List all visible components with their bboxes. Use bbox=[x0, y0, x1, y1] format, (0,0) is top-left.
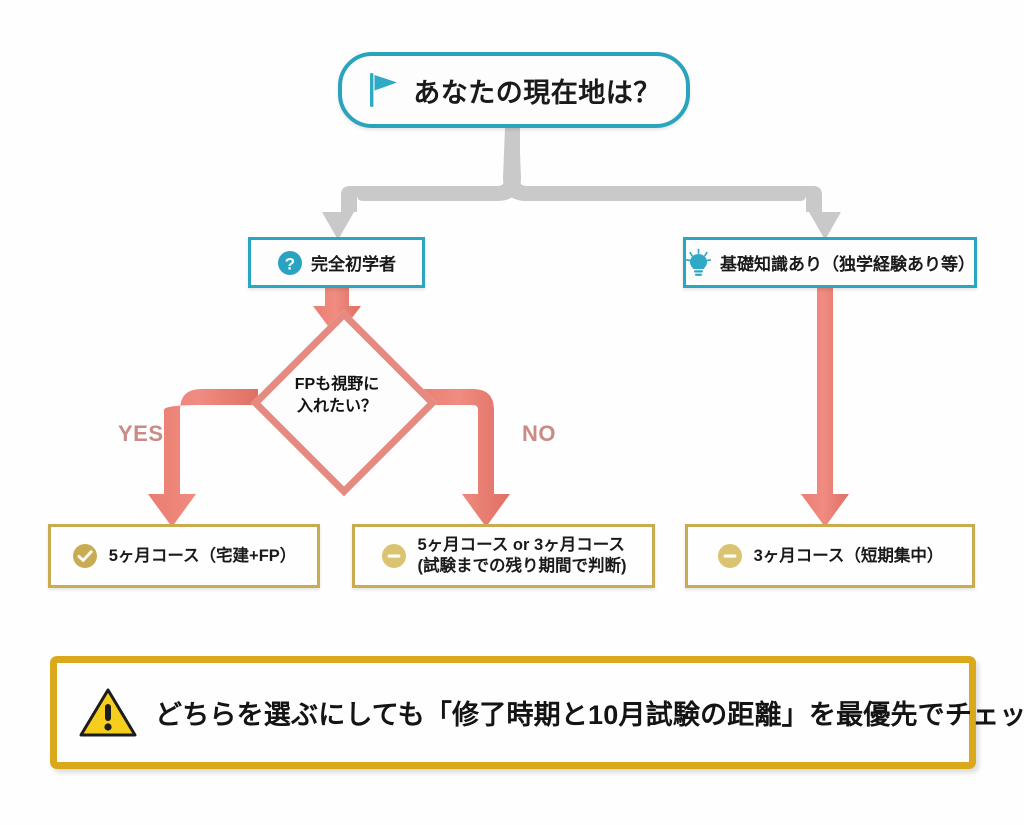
minus-circle-icon bbox=[717, 543, 743, 569]
result-2-line-1: 5ヶ月コース or 3ヶ月コース bbox=[418, 536, 625, 554]
result-2-line-2: (試験までの残り期間で判断) bbox=[418, 556, 627, 577]
minus-circle-icon bbox=[381, 543, 407, 569]
footer-note-text: どちらを選ぶにしても「修了時期と10月試験の距離」を最優先でチェック！ bbox=[155, 693, 1024, 732]
lightbulb-icon bbox=[685, 248, 712, 278]
node-root[interactable]: あなたの現在地は？ bbox=[338, 52, 690, 128]
arrow-yes bbox=[148, 389, 258, 527]
result-1-label: 5ヶ月コース（宅建+FP） bbox=[109, 546, 297, 567]
flag-icon bbox=[367, 71, 401, 109]
node-result-5m-fp[interactable]: 5ヶ月コース（宅建+FP） bbox=[48, 524, 320, 588]
check-circle-icon bbox=[72, 543, 98, 569]
question-circle-icon: ? bbox=[277, 250, 303, 276]
node-branch-has-basics[interactable]: 基礎知識あり（独学経験あり等） bbox=[683, 237, 977, 288]
branch-label-yes: YES bbox=[118, 421, 164, 447]
decision-line-2: 入れたい？ bbox=[295, 396, 379, 418]
arrow-basics-to-result bbox=[801, 288, 849, 527]
branch-beginner-label: 完全初学者 bbox=[311, 250, 396, 275]
node-result-3m[interactable]: 3ヶ月コース（短期集中） bbox=[685, 524, 975, 588]
result-3-line-1: 3ヶ月コース（短期集中） bbox=[754, 547, 944, 565]
result-3-label: 3ヶ月コース（短期集中） bbox=[754, 546, 944, 567]
node-decision-fp[interactable]: FPも視野に 入れたい？ bbox=[254, 337, 420, 455]
footer-note-banner: どちらを選ぶにしても「修了時期と10月試験の距離」を最優先でチェック！ bbox=[50, 656, 976, 769]
split-connector-gray bbox=[322, 126, 841, 240]
flowchart-canvas: あなたの現在地は？ ? 完全初学者 bbox=[0, 0, 1024, 825]
branch-label-no: NO bbox=[522, 421, 556, 447]
decision-text: FPも視野に 入れたい？ bbox=[254, 337, 420, 455]
svg-text:?: ? bbox=[285, 254, 295, 273]
warning-triangle-icon bbox=[79, 687, 137, 739]
decision-line-1: FPも視野に bbox=[295, 374, 379, 396]
branch-has-basics-label: 基礎知識あり（独学経験あり等） bbox=[720, 250, 975, 275]
result-1-line-1: 5ヶ月コース（宅建+FP） bbox=[109, 547, 297, 565]
node-result-5m-or-3m[interactable]: 5ヶ月コース or 3ヶ月コース (試験までの残り期間で判断) bbox=[352, 524, 655, 588]
node-branch-beginner[interactable]: ? 完全初学者 bbox=[248, 237, 425, 288]
result-2-label: 5ヶ月コース or 3ヶ月コース (試験までの残り期間で判断) bbox=[418, 535, 627, 576]
root-label: あなたの現在地は？ bbox=[413, 71, 661, 110]
